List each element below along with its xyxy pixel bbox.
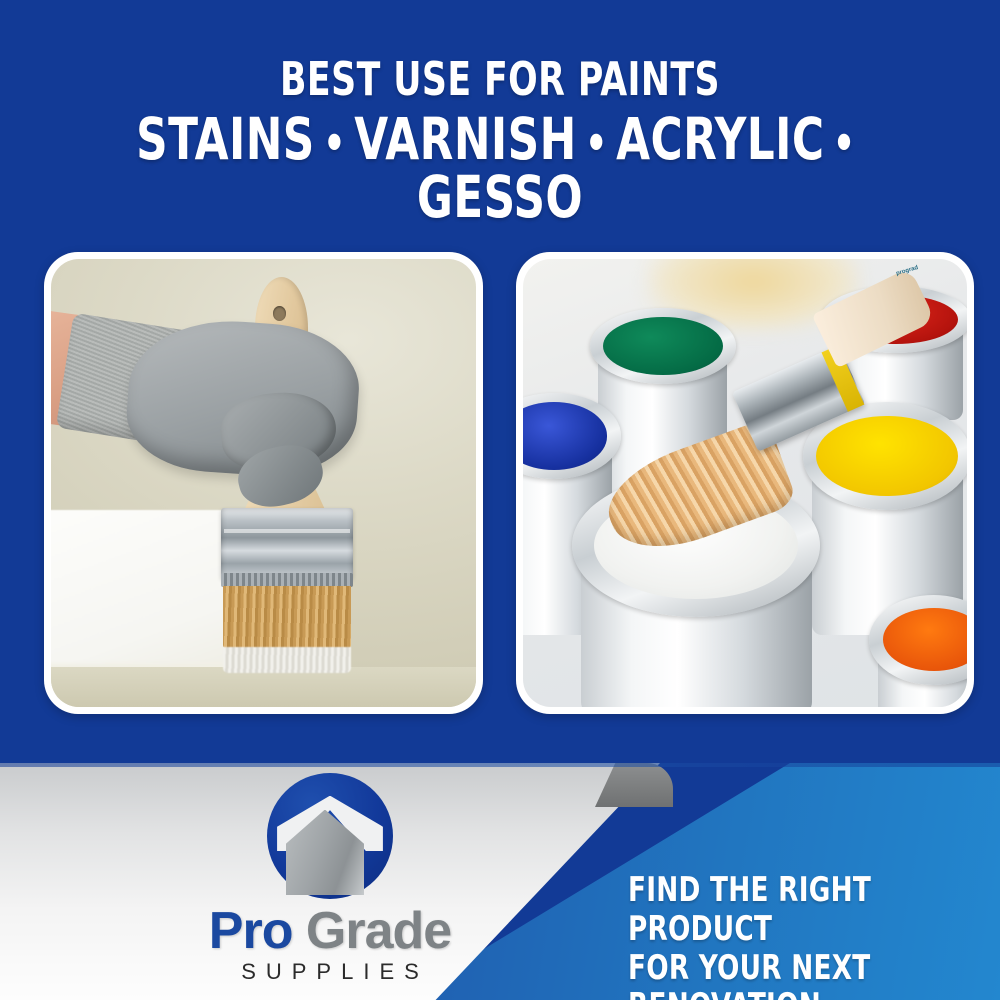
headline-item-gesso: GESSO — [417, 163, 583, 231]
brush-bristle-tips — [223, 647, 351, 674]
product-photo-card-left: progradesupplies.com — [44, 252, 483, 714]
pro-grade-house-logo-icon — [267, 773, 393, 899]
headline-item-acrylic: ACRYLIC — [616, 105, 824, 173]
bullet-separator-icon: • — [315, 120, 354, 166]
bullet-separator-icon: • — [577, 120, 616, 166]
product-photo-card-right: prograd — [516, 252, 974, 714]
footer-top-divider — [0, 763, 1000, 767]
brand-logo: Pro Grade SUPPLIES — [120, 773, 540, 985]
headline-line-2: STAINS•VARNISH•ACRYLIC•GESSO — [80, 110, 920, 226]
cta-line-1: FIND THE RIGHT PRODUCT — [628, 871, 938, 949]
brush-ferrule — [221, 508, 353, 580]
brand-word-grade: Grade — [306, 902, 451, 960]
cta-line-2: FOR YOUR NEXT RENOVATION — [628, 949, 938, 1000]
photo-paint-cans-with-brush: prograd — [523, 259, 967, 707]
brand-wordmark: Pro Grade — [120, 905, 540, 957]
footer-branding-bar: Pro Grade SUPPLIES FIND THE RIGHT PRODUC… — [0, 763, 1000, 1000]
page-title: BEST USE FOR PAINTS STAINS•VARNISH•ACRYL… — [0, 56, 1000, 226]
photo-frame-right: prograd — [523, 259, 967, 707]
headline-line-1: BEST USE FOR PAINTS — [80, 56, 920, 102]
brand-word-pro: Pro — [209, 902, 293, 960]
infographic-canvas: BEST USE FOR PAINTS STAINS•VARNISH•ACRYL… — [0, 0, 1000, 1000]
brush-bristles — [223, 586, 351, 649]
call-to-action-text: FIND THE RIGHT PRODUCT FOR YOUR NEXT REN… — [628, 871, 988, 1000]
photo-hand-with-chip-brush: progradesupplies.com — [51, 259, 476, 707]
brush-ferrule-crimp — [221, 573, 353, 587]
photo-frame-left: progradesupplies.com — [51, 259, 476, 707]
brand-subtitle: SUPPLIES — [120, 959, 540, 985]
bullet-separator-icon: • — [824, 120, 863, 166]
headline-item-stains: STAINS — [136, 105, 315, 173]
